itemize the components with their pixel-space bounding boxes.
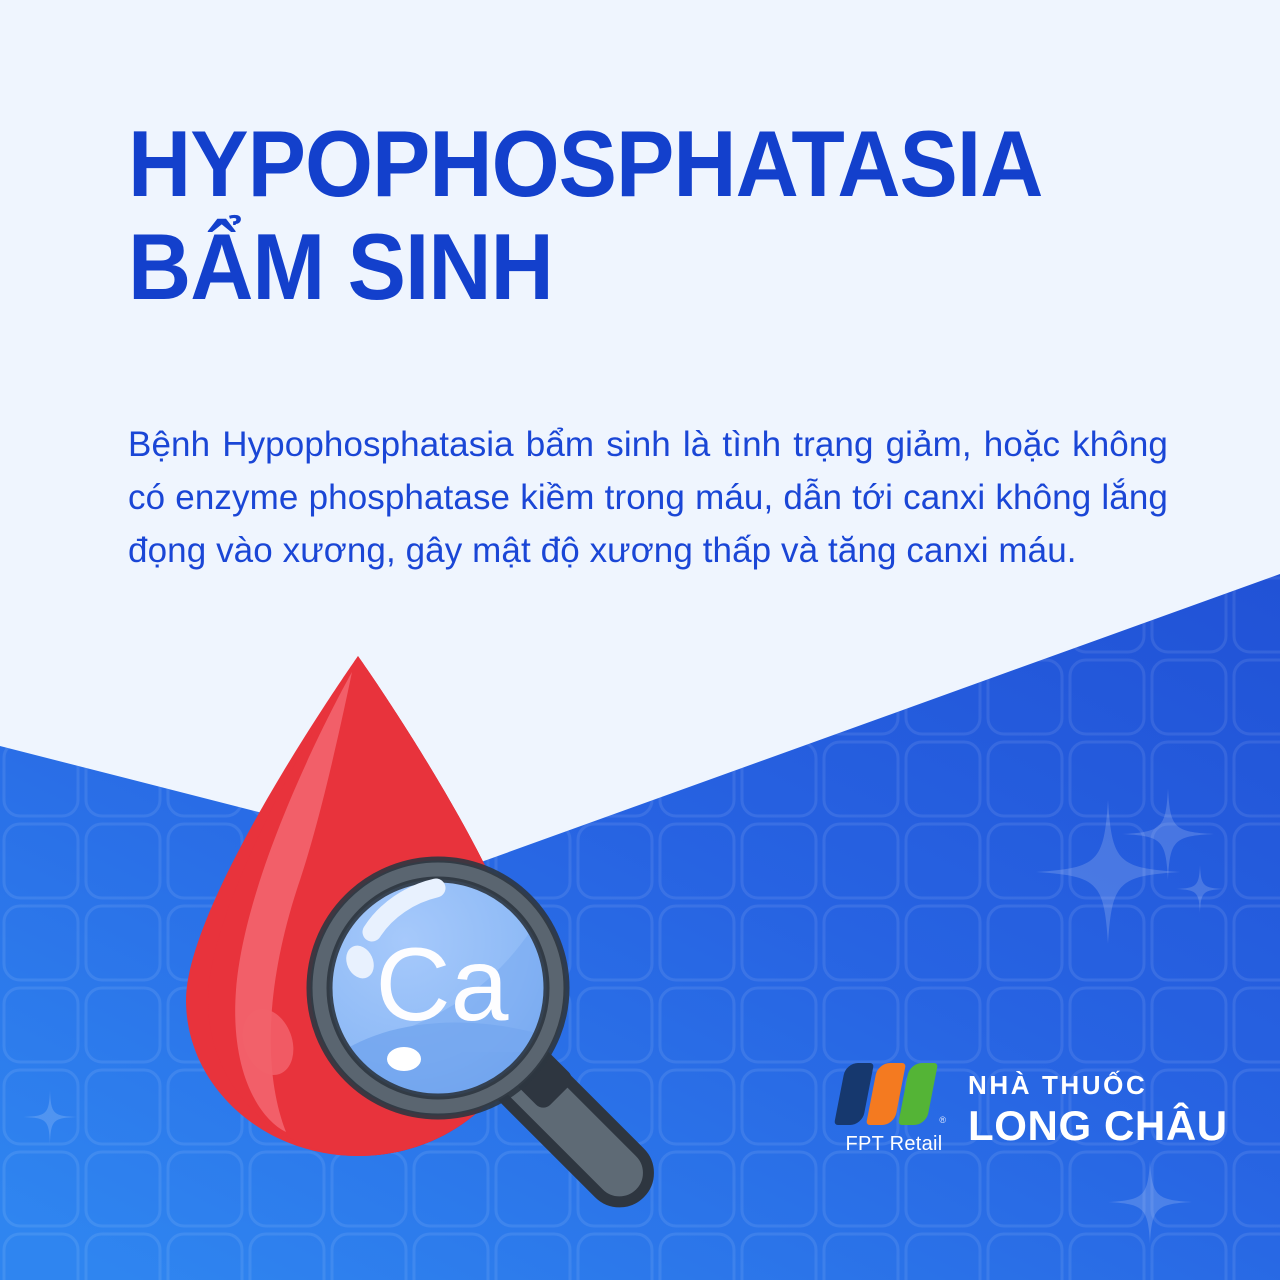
page-title: HYPOPHOSPHATASIA BẨM SINH xyxy=(128,118,1188,312)
title-line-1: HYPOPHOSPHATASIA xyxy=(128,118,1114,209)
description-paragraph: Bệnh Hypophosphatasia bẩm sinh là tình t… xyxy=(128,418,1168,578)
brand-logo: ® FPT Retail NHÀ THUỐC LONG CHÂU xyxy=(838,1063,1228,1156)
company-name: FPT Retail xyxy=(838,1133,950,1156)
fpt-retail-logo-icon: ® xyxy=(838,1063,942,1129)
fpt-retail-logo: ® FPT Retail xyxy=(838,1063,950,1156)
brand-line-1: NHÀ THUỐC xyxy=(968,1072,1228,1098)
infographic-poster: Ca HYPOPHOSPHATASIA BẨM SINH Bệnh Hypoph… xyxy=(0,0,1280,1280)
lens-highlight-dot xyxy=(387,1047,421,1071)
brand-line-2: LONG CHÂU xyxy=(968,1105,1228,1147)
brand-name: NHÀ THUỐC LONG CHÂU xyxy=(968,1072,1228,1147)
lens-label: Ca xyxy=(376,927,509,1043)
title-line-2: BẨM SINH xyxy=(128,221,1114,312)
registered-trademark-icon: ® xyxy=(939,1115,946,1125)
description-text: Bệnh Hypophosphatasia bẩm sinh là tình t… xyxy=(128,418,1168,578)
